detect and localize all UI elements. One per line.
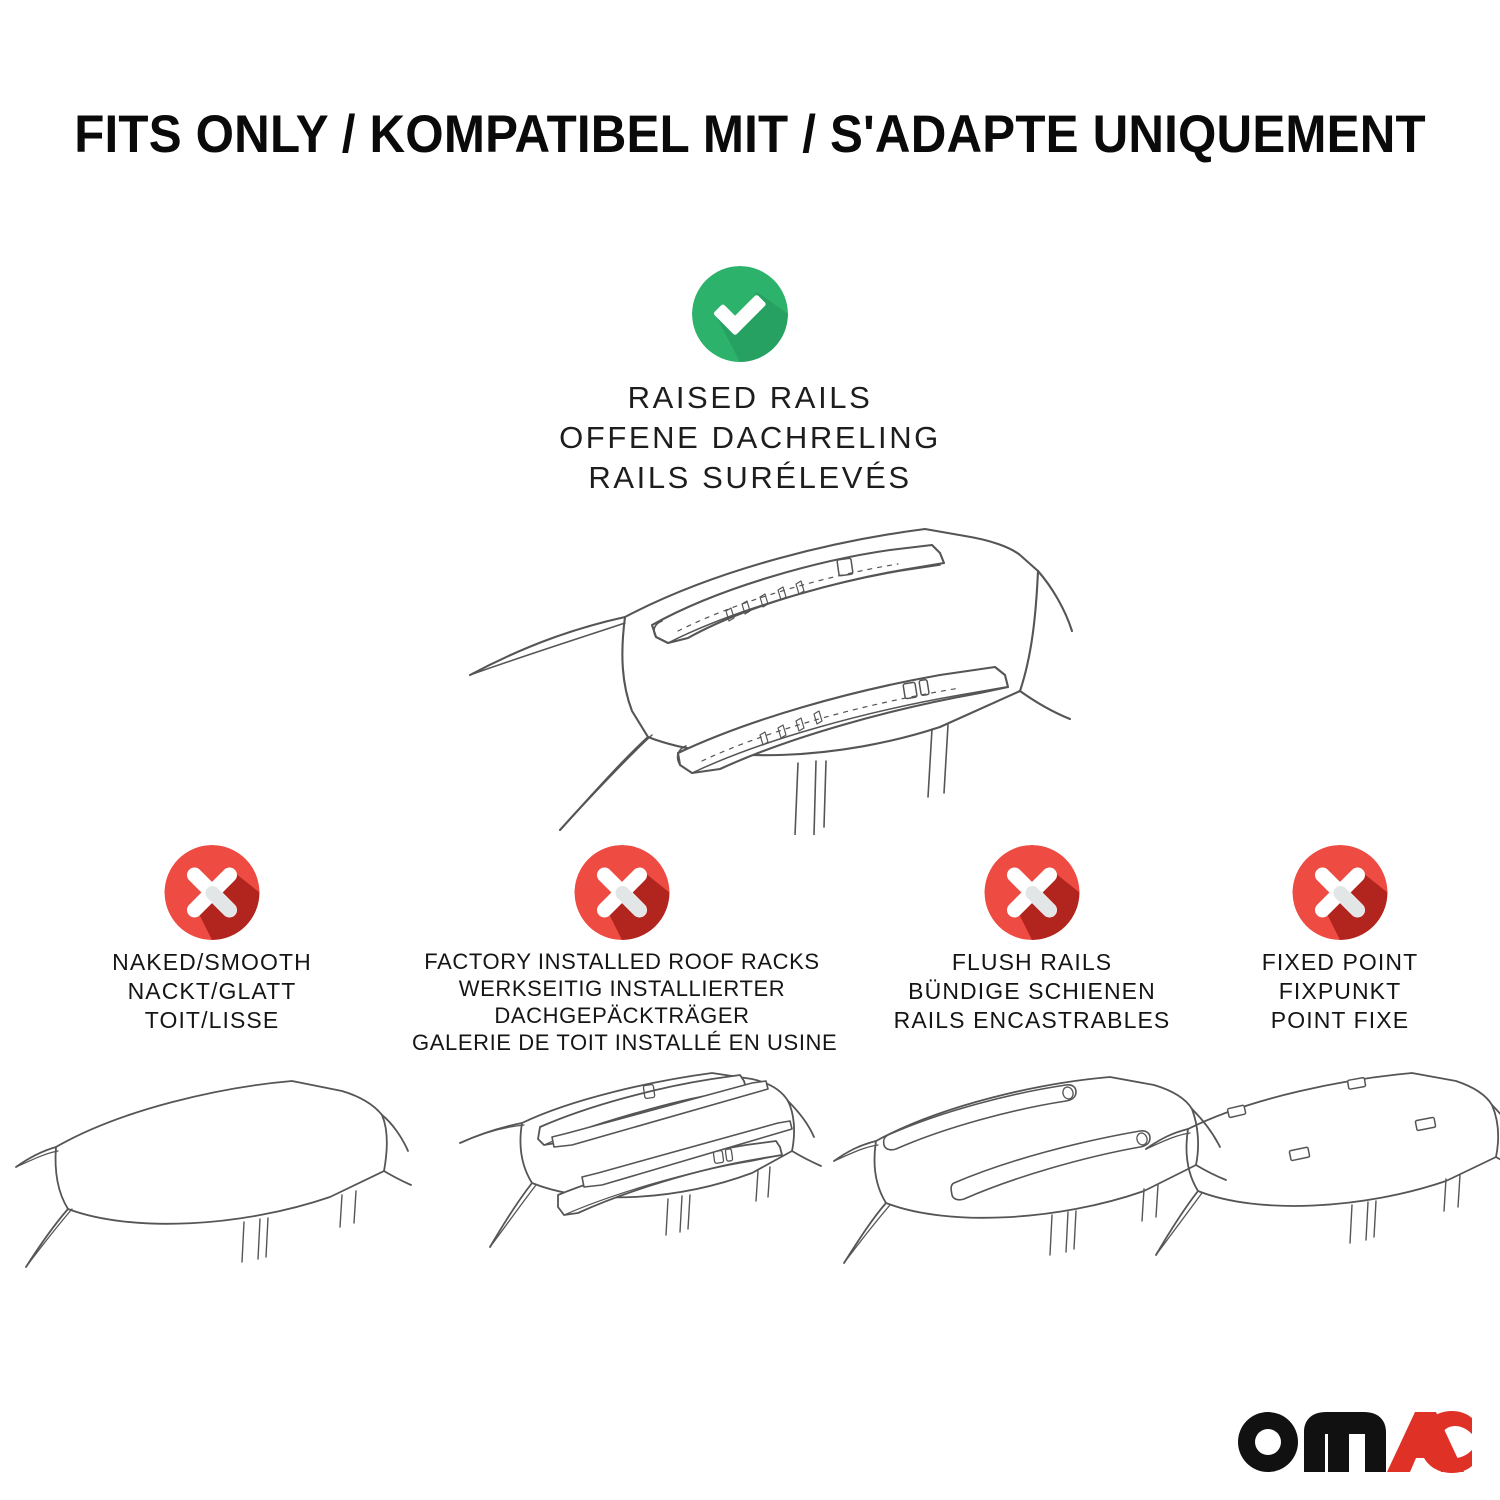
x-circle-icon xyxy=(1293,845,1388,940)
check-circle-icon xyxy=(692,266,788,362)
reject-label-fr: GALERIE DE TOIT INSTALLÉ EN USINE xyxy=(412,1029,832,1056)
reject-item-fixed-point: FIXED POINT FIXPUNKT POINT FIXE xyxy=(1130,845,1500,1305)
reject-label-de: NACKT/GLATT xyxy=(2,977,422,1006)
reject-label-group: NAKED/SMOOTH NACKT/GLATT TOIT/LISSE xyxy=(2,948,422,1035)
reject-label-de-1: WERKSEITIG INSTALLIERTER xyxy=(412,975,832,1002)
x-circle-icon xyxy=(575,845,670,940)
reject-label-group: FACTORY INSTALLED ROOF RACKS WERKSEITIG … xyxy=(412,948,832,1056)
omac-logo xyxy=(1232,1404,1477,1476)
reject-label-de: FIXPUNKT xyxy=(1130,977,1500,1006)
approved-label-en: RAISED RAILS xyxy=(400,378,1100,418)
x-circle-icon xyxy=(165,845,260,940)
reject-item-naked-smooth: NAKED/SMOOTH NACKT/GLATT TOIT/LISSE xyxy=(2,845,422,1305)
reject-label-en: NAKED/SMOOTH xyxy=(2,948,422,977)
reject-label-en: FIXED POINT xyxy=(1130,948,1500,977)
car-roof-naked-smooth-illustration xyxy=(12,1067,412,1292)
x-circle-icon xyxy=(985,845,1080,940)
reject-label-de-2: DACHGEPÄCKTRÄGER xyxy=(412,1002,832,1029)
approved-label-fr: RAILS SURÉLEVÉS xyxy=(400,458,1100,498)
car-roof-factory-racks-illustration xyxy=(422,1067,822,1292)
reject-label-group: FIXED POINT FIXPUNKT POINT FIXE xyxy=(1130,948,1500,1035)
car-roof-raised-rails-illustration xyxy=(420,505,1100,835)
reject-item-factory-roof-racks: FACTORY INSTALLED ROOF RACKS WERKSEITIG … xyxy=(412,845,832,1305)
reject-label-fr: TOIT/LISSE xyxy=(2,1006,422,1035)
reject-label-fr: POINT FIXE xyxy=(1130,1006,1500,1035)
car-roof-fixed-point-illustration xyxy=(1140,1067,1500,1292)
reject-label-en: FACTORY INSTALLED ROOF RACKS xyxy=(412,948,832,975)
page-title: FITS ONLY / KOMPATIBEL MIT / S'ADAPTE UN… xyxy=(53,104,1448,165)
approved-label-group: RAISED RAILS OFFENE DACHRELING RAILS SUR… xyxy=(400,378,1100,498)
approved-label-de: OFFENE DACHRELING xyxy=(400,418,1100,458)
